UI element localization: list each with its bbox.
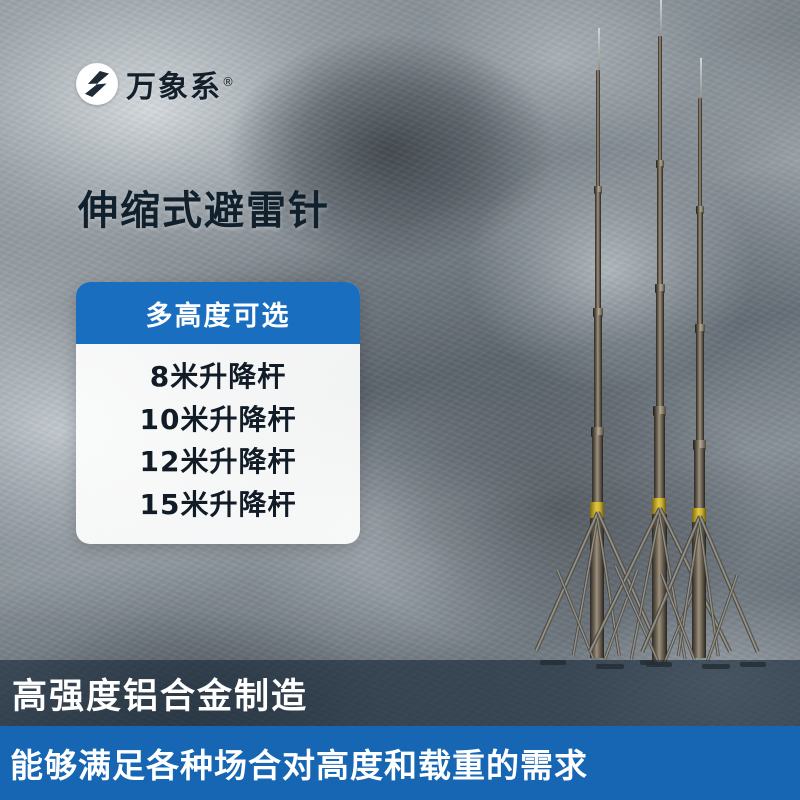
mast-left-seg-2 <box>595 192 601 312</box>
height-options-card: 多高度可选 8米升降杆 10米升降杆 12米升降杆 15米升降杆 <box>76 282 360 544</box>
mast-center-seg-1 <box>658 36 662 164</box>
list-item: 8米升降杆 <box>76 356 360 399</box>
mast-center-seg-4 <box>654 414 665 506</box>
height-options-list: 8米升降杆 10米升降杆 12米升降杆 15米升降杆 <box>76 344 360 526</box>
card-title: 多高度可选 <box>146 294 291 333</box>
brand-name: 万象系® <box>126 62 236 106</box>
page-title: 伸缩式避雷针 <box>78 178 330 236</box>
material-banner-text: 高强度铝合金制造 <box>0 668 308 719</box>
benefit-banner-text: 能够满足各种场合对高度和载重的需求 <box>0 739 588 787</box>
mast-center-seg-3 <box>656 291 664 409</box>
list-item: 10米升降杆 <box>76 399 360 442</box>
registered-mark: ® <box>222 75 236 89</box>
swoosh-logo-icon <box>76 63 118 105</box>
benefit-banner: 能够满足各种场合对高度和载重的需求 <box>0 726 800 800</box>
brand-name-text: 万象系 <box>126 70 222 105</box>
mast-right-seg-3 <box>696 331 704 443</box>
mast-center-tip <box>660 0 662 40</box>
mast-right-seg-2 <box>697 212 703 328</box>
list-item: 12米升降杆 <box>76 441 360 484</box>
mast-left-tip <box>598 28 600 74</box>
list-item: 15米升降杆 <box>76 484 360 527</box>
brand-logo: 万象系® <box>76 62 236 106</box>
mast-left-seg-1 <box>596 70 600 190</box>
mast-left-seg-3 <box>594 315 602 430</box>
mast-right-tip <box>700 58 702 102</box>
product-poster: 万象系® 伸缩式避雷针 多高度可选 8米升降杆 10米升降杆 12米升降杆 15… <box>0 0 800 800</box>
mast-center-seg-2 <box>657 166 663 288</box>
mast-right-seg-1 <box>698 98 702 210</box>
card-header: 多高度可选 <box>76 282 360 344</box>
material-banner: 高强度铝合金制造 <box>0 660 800 726</box>
